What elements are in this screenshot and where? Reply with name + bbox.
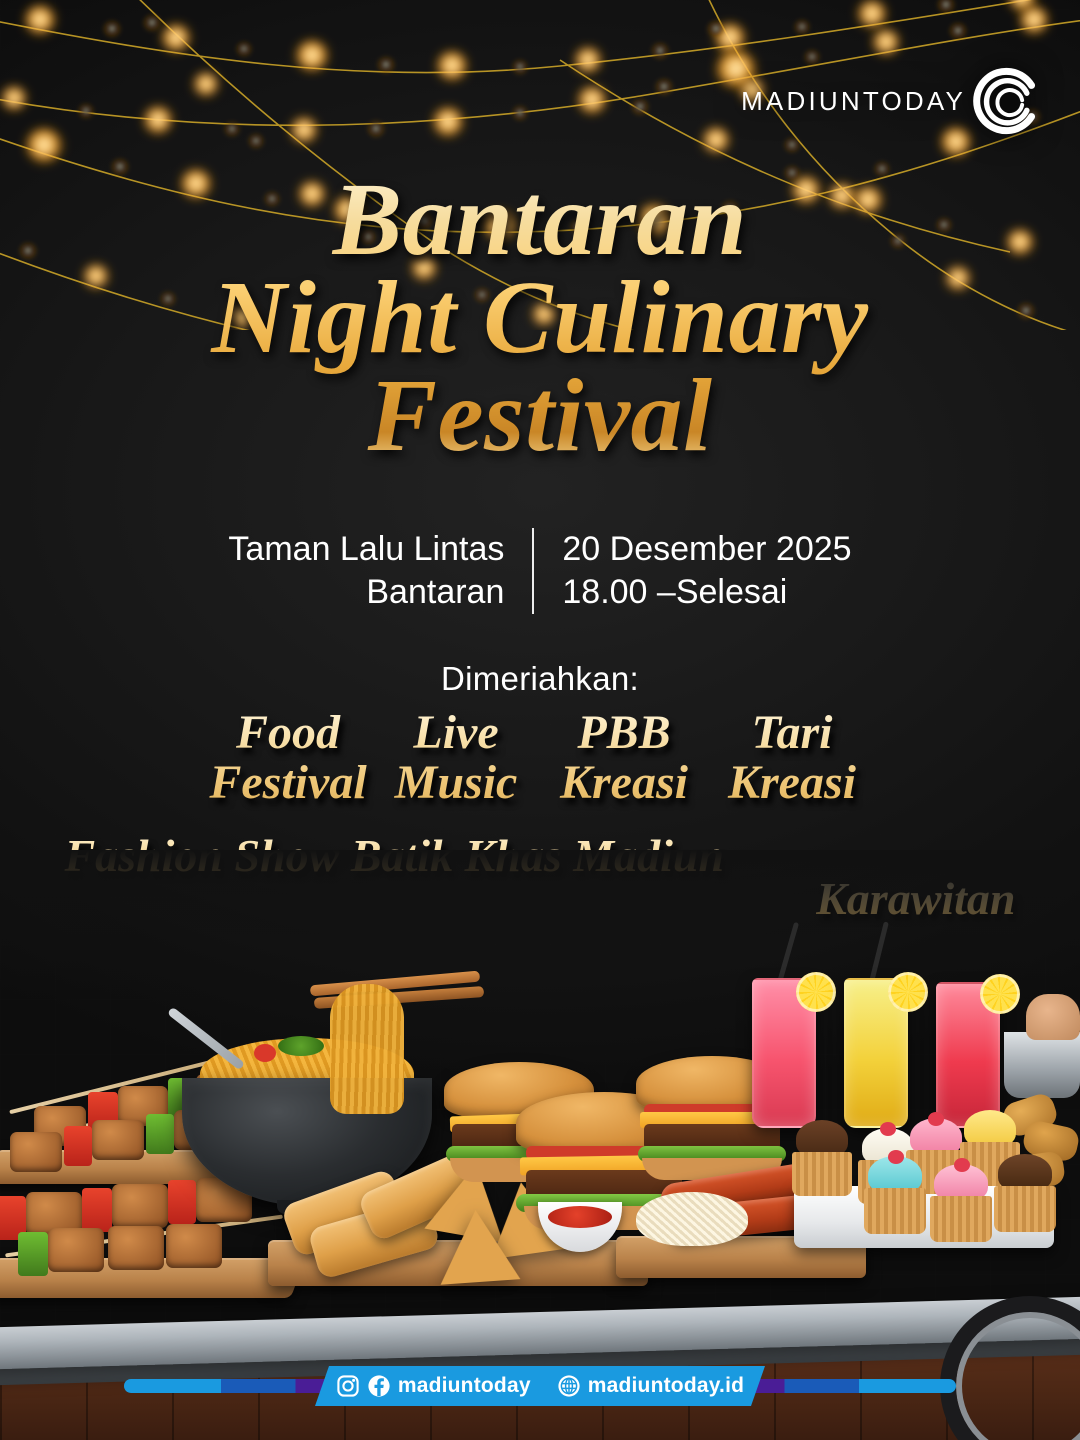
lemon-slice	[888, 972, 928, 1012]
title-line-3: Festival	[0, 364, 1080, 468]
lineup-item-pbb-kreasi: PBB Kreasi	[540, 708, 708, 808]
lineup-item-line-1: Food	[236, 706, 340, 759]
samosa	[436, 1207, 521, 1284]
tomato-garnish	[254, 1044, 276, 1062]
event-time: 18.00 –Selesai	[562, 571, 851, 614]
social-handle-group[interactable]: madiuntoday	[336, 1374, 531, 1398]
page-title: Bantaran Night Culinary Festival	[0, 168, 1080, 468]
meta-divider	[532, 528, 534, 614]
lineup-item-live-music: Live Music	[372, 708, 540, 808]
lineup-item-line-2: Music	[372, 758, 540, 808]
title-line-2: Night Culinary	[0, 266, 1080, 370]
lifted-noodles	[330, 984, 404, 1114]
lineup-item-tari-kreasi: Tari Kreasi	[708, 708, 876, 808]
cupcake-blue	[862, 1156, 928, 1234]
venue-line-2: Bantaran	[228, 571, 504, 614]
chili-sauce	[548, 1206, 612, 1228]
lemon-slice	[796, 972, 836, 1012]
lemon-slice	[980, 974, 1020, 1014]
facebook-icon[interactable]	[367, 1374, 391, 1398]
globe-icon[interactable]	[557, 1374, 581, 1398]
lineup-item-line-2: Festival	[204, 758, 372, 808]
herb-garnish	[278, 1036, 324, 1056]
poster: MADIUNTODAY Bantaran Night Culinary Fest…	[0, 0, 1080, 1440]
website-group[interactable]: madiuntoday.id	[557, 1374, 744, 1398]
title-line-1: Bantaran	[0, 168, 1080, 272]
lineup-label: Dimeriahkan:	[0, 660, 1080, 698]
website-text: madiuntoday.id	[588, 1374, 744, 1398]
hand	[1026, 994, 1080, 1040]
venue-line-1: Taman Lalu Lintas	[228, 528, 504, 571]
cupcake-pink-2	[928, 1164, 994, 1242]
footer-social-band: madiuntoday madiuntoday.id	[315, 1366, 765, 1406]
datetime-block: 20 Desember 2025 18.00 –Selesai	[534, 528, 851, 614]
drink-pink-left	[752, 978, 816, 1128]
lineup-item-line-1: PBB	[577, 706, 670, 759]
drink-red-right	[936, 982, 1000, 1128]
social-handle-text: madiuntoday	[398, 1374, 531, 1398]
swirl-icon	[966, 62, 1044, 140]
coleslaw	[636, 1192, 748, 1246]
lineup-item-line-1: Tari	[752, 706, 833, 759]
footer-stripe-right	[736, 1379, 956, 1393]
brand-logo-text: MADIUNTODAY	[741, 86, 966, 117]
lineup-item-line-2: Kreasi	[540, 758, 708, 808]
event-meta: Taman Lalu Lintas Bantaran 20 Desember 2…	[0, 528, 1080, 614]
event-date: 20 Desember 2025	[562, 528, 851, 571]
lineup-item-food-festival: Food Festival	[204, 708, 372, 808]
metal-pot	[1004, 1032, 1080, 1098]
cupcake-chocolate	[790, 1120, 854, 1196]
instagram-icon[interactable]	[336, 1374, 360, 1398]
venue-block: Taman Lalu Lintas Bantaran	[228, 528, 532, 614]
drink-yellow-center	[844, 978, 908, 1128]
footer-stripe-left	[124, 1379, 344, 1393]
lineup-item-line-1: Live	[413, 706, 498, 759]
brand-logo[interactable]: MADIUNTODAY	[741, 62, 1044, 140]
lineup-row-1: Food Festival Live Music PBB Kreasi Tari…	[0, 708, 1080, 808]
footer-bar: madiuntoday madiuntoday.id	[0, 1366, 1080, 1406]
cupcake-chocolate-2	[992, 1154, 1058, 1232]
food-spread-photo	[0, 920, 1080, 1440]
lineup-item-line-2: Kreasi	[708, 758, 876, 808]
